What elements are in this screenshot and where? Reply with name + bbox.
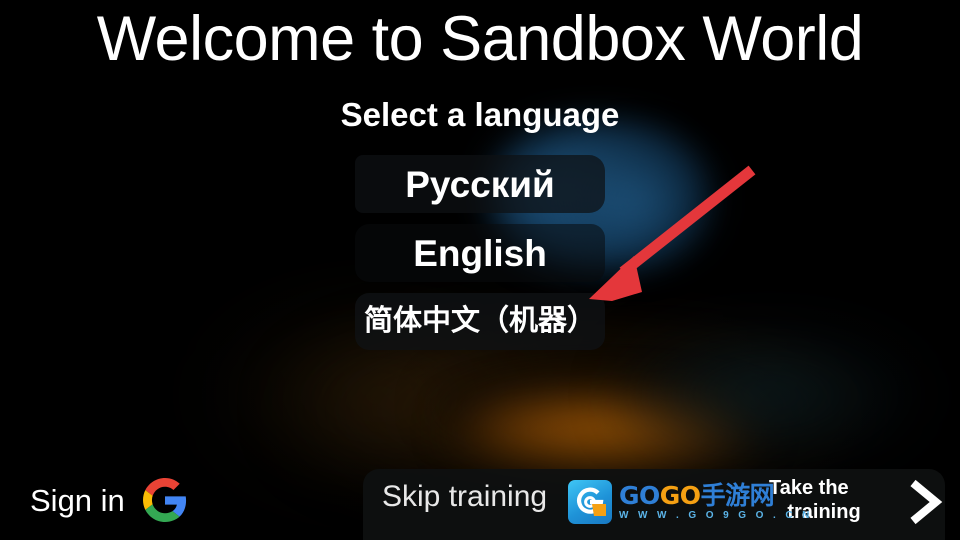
page-subtitle: Select a language (0, 98, 960, 131)
page-title: Welcome to Sandbox World (0, 8, 960, 71)
language-option-russian[interactable]: Русский (355, 155, 605, 213)
sign-in-button[interactable]: Sign in (30, 478, 187, 522)
sign-in-label: Sign in (30, 485, 125, 516)
skip-training-button[interactable]: Skip training (382, 482, 547, 512)
chevron-right-icon[interactable] (903, 477, 945, 527)
language-option-label: 简体中文（机器） (364, 307, 596, 336)
language-option-list: Русский English 简体中文（机器） (355, 155, 605, 361)
language-option-label: Русский (405, 166, 555, 203)
game-language-select-screen: Welcome to Sandbox World Select a langua… (0, 0, 960, 540)
watermark-go-second: GO (660, 481, 701, 510)
language-option-english[interactable]: English (355, 224, 605, 282)
watermark-url: W W W . G O 9 G O . C N (619, 510, 813, 522)
watermark-go-first: GO (619, 481, 660, 510)
gogo-watermark: GOGO手游网 W W W . G O 9 G O . C N (568, 480, 813, 524)
watermark-site-name: 手游网 (701, 481, 775, 510)
language-option-simplified-chinese[interactable]: 简体中文（机器） (355, 293, 605, 350)
google-g-icon (143, 478, 187, 522)
gogo-logo-icon (568, 480, 612, 524)
language-option-label: English (413, 235, 547, 272)
